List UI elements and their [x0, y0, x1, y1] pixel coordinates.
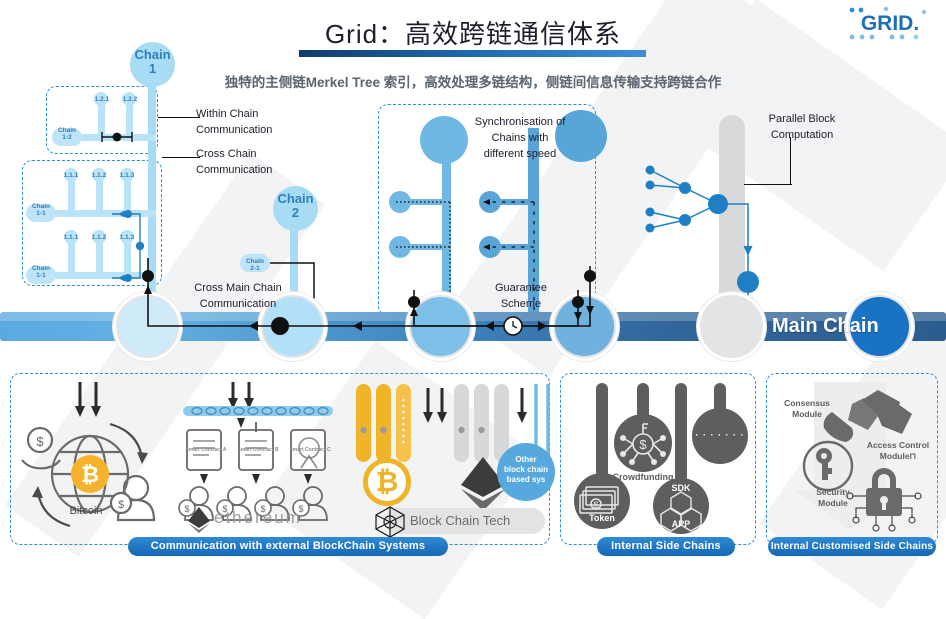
smart-contract-b-label: Smart Contract B: [230, 447, 286, 453]
consensus-module-label: Consensus Module: [770, 398, 844, 420]
group-1-1b-l2: 1-1: [36, 272, 45, 279]
node-1-2-2-label: 1.2.2: [118, 96, 142, 103]
cross-chain-callout-l2: Communication: [196, 164, 272, 176]
group-chain-1-1-label: Chain 1-1: [26, 203, 56, 218]
side-chain-stalk-app: [675, 383, 687, 483]
token-label: Token: [574, 513, 630, 523]
cross-main-l2: Communication: [200, 298, 276, 310]
svg-text:₿: ₿: [81, 462, 99, 487]
side-chain-dots-label: · · · · · · ·: [692, 430, 748, 440]
sync-label-l1: Synchronisation of: [475, 116, 566, 128]
chain1-label-line2: 1: [149, 61, 156, 76]
blockchain-tech-icon: [370, 503, 410, 541]
external-blockchain-banner: Communication with external BlockChain S…: [128, 537, 448, 556]
node-1-2-1-label: 1.2.1: [90, 96, 114, 103]
logo-wordmark: GRID.: [861, 12, 919, 35]
svg-text:$: $: [639, 437, 647, 452]
smart-contract-c-label: Smart Contract C: [282, 447, 338, 453]
crowdfunding-icon: $: [614, 414, 672, 472]
node-1-1-1b-label: 1.1.1: [60, 234, 82, 241]
svg-text:$: $: [36, 434, 44, 449]
consensus-l2: Module: [792, 409, 822, 419]
cross-main-l1: Cross Main Chain: [194, 282, 281, 294]
chain2-label: Chain 2: [273, 192, 318, 219]
group-1-1b-l1: Chain: [32, 265, 50, 272]
group-1-1-l1: Chain: [32, 203, 50, 210]
node-1-1-3b-label: 1.1.3: [116, 234, 138, 241]
blockchain-tech-label: Block Chain Tech: [410, 513, 510, 528]
smart-contract-a-label: Smart Contract A: [178, 447, 234, 453]
other-chain-l2: block chain: [504, 465, 548, 474]
grid-logo: GRID.: [846, 4, 936, 44]
within-chain-callout: Within Chain Communication: [196, 107, 306, 139]
ethereum-label: ethereum: [214, 508, 302, 528]
customised-side-chains-banner: Internal Customised Side Chains: [768, 537, 936, 556]
group-1-2-l1: Chain: [58, 127, 76, 134]
access-control-module-label: Access Control Module⊓: [856, 440, 940, 462]
bitcoin-label: Bitcoin: [46, 505, 126, 517]
cross-chain-callout-leader: [162, 157, 200, 158]
node-1-1-2-label: 1.1.2: [88, 172, 110, 179]
rail-hub-5[interactable]: [697, 292, 766, 361]
sync-label-l3: different speed: [484, 148, 557, 160]
svg-text:$: $: [593, 500, 598, 510]
security-l2: Module: [818, 498, 848, 508]
parallel-block-leader-v: [790, 137, 791, 185]
node-1-1-1-label: 1.1.1: [60, 172, 82, 179]
consensus-l1: Consensus: [784, 398, 830, 408]
within-chain-callout-l1: Within Chain: [196, 108, 258, 120]
main-chain-label: Main Chain: [772, 315, 879, 338]
sync-label-l2: Chains with: [492, 132, 549, 144]
group-chain-1-2-label: Chain 1-2: [52, 127, 82, 142]
cross-chain-callout: Cross Chain Communication: [196, 147, 306, 179]
group-1-1-l2: 1-1: [36, 210, 45, 217]
parallel-l1: Parallel Block: [769, 113, 836, 125]
security-l1: Security: [816, 487, 850, 497]
other-blockchain-label: Other block chain based sys: [497, 455, 555, 485]
chain1-label: Chain 1: [130, 48, 175, 75]
parallel-l2: Computation: [771, 129, 833, 141]
security-module-label: Security Module: [800, 487, 866, 509]
internal-side-chains-banner: Internal Side Chains: [597, 537, 735, 556]
group-chain-1-1b-label: Chain 1-1: [26, 265, 56, 280]
sync-chains-label: Synchronisation of Chains with different…: [455, 115, 585, 163]
other-chain-l3: based sys: [507, 475, 546, 484]
chain2-label-line2: 2: [292, 205, 299, 220]
within-chain-callout-leader: [158, 117, 200, 118]
parallel-block-leader-h: [744, 184, 792, 185]
title-underline: [299, 50, 646, 57]
parallel-block-label: Parallel Block Computation: [752, 112, 852, 144]
group-1-2-l2: 1-2: [62, 134, 71, 141]
app-label: APP: [653, 519, 709, 529]
guarantee-scheme-graphic: [398, 290, 618, 350]
other-chain-l1: Other: [515, 455, 536, 464]
cross-main-chain-callout: Cross Main Chain Communication: [168, 281, 308, 313]
diagram-canvas: Grid：高效跨链通信体系 独特的主侧链Merkel Tree 索引，高效处理多…: [0, 0, 946, 563]
cross-chain-callout-l1: Cross Chain: [196, 148, 257, 160]
bitcoin-coin-glyph: ₿: [363, 466, 411, 498]
within-chain-callout-l2: Communication: [196, 124, 272, 136]
node-1-1-3-label: 1.1.3: [116, 172, 138, 179]
access-l2: Module⊓: [880, 451, 916, 461]
node-1-1-2b-label: 1.1.2: [88, 234, 110, 241]
side-chain-stalk-token: [596, 383, 608, 478]
access-l1: Access Control: [867, 440, 929, 450]
sdk-badge: SDK: [653, 483, 709, 493]
